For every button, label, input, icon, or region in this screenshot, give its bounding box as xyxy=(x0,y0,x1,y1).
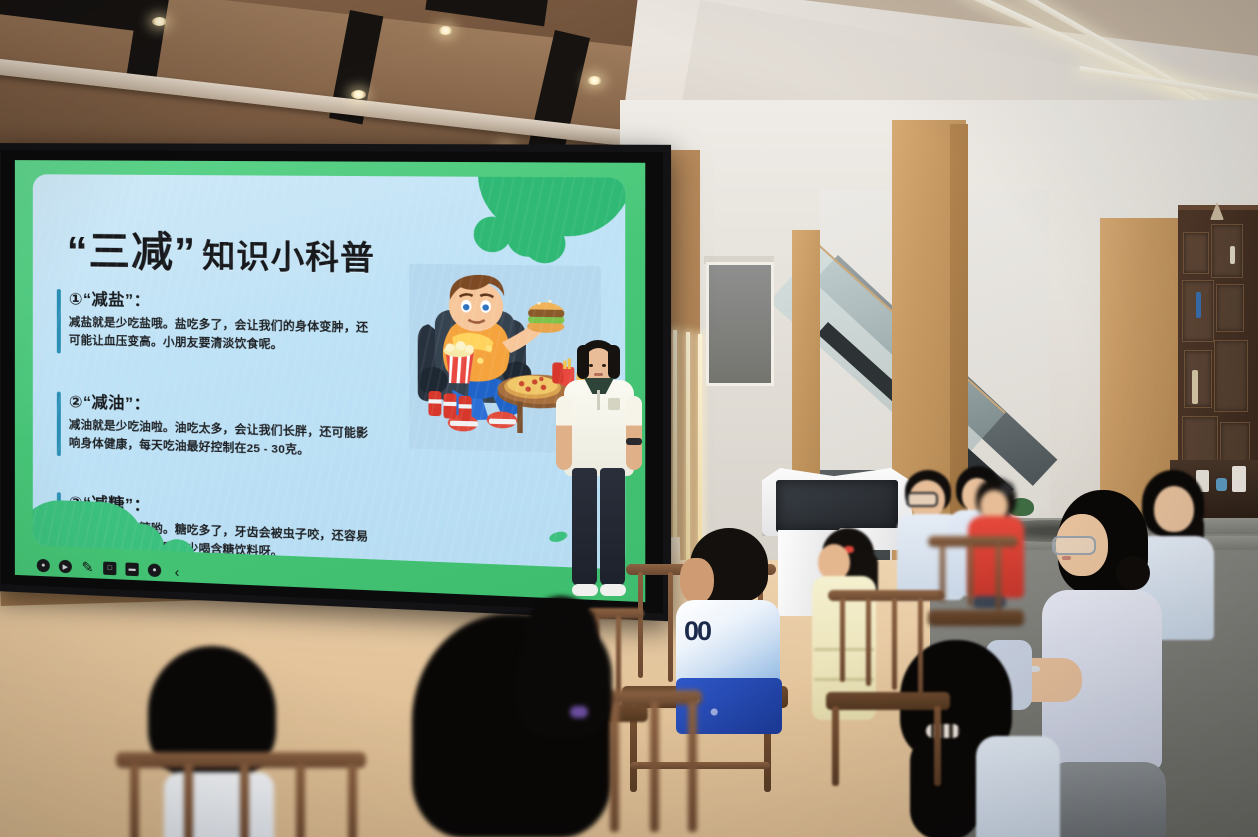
chair-spindle xyxy=(688,702,697,832)
presenter-hair-side xyxy=(577,345,589,379)
shirt xyxy=(976,736,1060,837)
photo-scene: “三减”知识小科普 ①“减盐”： 减盐就是少吃盐哦。盐吃多了，会让我们的身体变肿… xyxy=(0,0,1258,837)
presenter-wristwatch xyxy=(626,438,642,445)
head xyxy=(680,558,714,604)
slide-title-quoted: “三减” xyxy=(67,228,196,276)
presenter-placket xyxy=(597,390,600,410)
eyeglasses xyxy=(1052,536,1096,555)
shelf-ornament-4 xyxy=(1230,246,1235,264)
chair-spindle xyxy=(840,598,845,682)
chair-seat xyxy=(826,692,950,710)
chair-spindle xyxy=(940,544,945,602)
section-accent-bar xyxy=(57,392,61,457)
presenter-trouser-left xyxy=(572,468,597,586)
chair-spindle xyxy=(348,764,357,837)
record-dot-icon[interactable]: ● xyxy=(37,559,50,573)
back-chevron-icon[interactable]: ‹ xyxy=(170,564,183,578)
chair-spindle xyxy=(184,764,193,837)
shelf-cell xyxy=(1214,340,1248,412)
presenter-arm-left xyxy=(556,396,572,470)
chair-spindle xyxy=(296,764,305,837)
presenter-logo xyxy=(608,398,620,410)
presenter-mouth xyxy=(594,373,603,376)
shelf-cell xyxy=(1216,284,1244,332)
shelf-cell xyxy=(1184,350,1212,408)
candle-object-2 xyxy=(1232,466,1246,492)
ceiling-downlight-4 xyxy=(587,76,602,85)
presenter-shoe-left xyxy=(572,584,598,596)
presenter-eye-left xyxy=(589,364,593,367)
lectern-touchscreen[interactable] xyxy=(776,480,898,532)
screenshot-icon[interactable]: □ xyxy=(103,562,116,576)
grey-chair-back xyxy=(1046,762,1166,837)
settings-icon[interactable]: ● xyxy=(148,563,161,577)
head xyxy=(818,544,850,580)
camera-icon[interactable]: ▬ xyxy=(125,562,138,576)
slide-toolbar[interactable]: ● ▶ ✎ □ ▬ ● ‹ xyxy=(37,559,184,578)
slide-content-panel: “三减”知识小科普 ①“减盐”： 减盐就是少吃盐哦。盐吃多了，会让我们的身体变肿… xyxy=(33,174,625,569)
section-body: 减油就是少吃油啦。油吃太多，会让我们长胖，还可能影响身体健康，每天吃油最好控制在… xyxy=(69,417,379,462)
slide-title-rest: 知识小科普 xyxy=(202,237,375,276)
hair-bun xyxy=(1116,556,1150,590)
eyeglasses xyxy=(906,492,938,507)
hair xyxy=(516,620,612,738)
presenter-arm-right xyxy=(626,396,642,470)
section-heading: ②“减油”： xyxy=(69,388,379,421)
slide-section-1: ①“减盐”： 减盐就是少吃盐哦。盐吃多了，会让我们的身体变肿，还可能让血压变高。… xyxy=(69,285,379,357)
slide-decor-dot-top-right xyxy=(524,223,566,263)
shelf-cell xyxy=(1183,232,1209,274)
presentation-slide: “三减”知识小科普 ①“减盐”： 减盐就是少吃盐哦。盐吃多了，会让我们的身体变肿… xyxy=(15,160,645,602)
shelf-ornament-2 xyxy=(1196,292,1201,318)
slide-section-2: ②“减油”： 减油就是少吃油啦。油吃太多，会让我们长胖，还可能影响身体健康，每天… xyxy=(69,388,379,463)
presenter-hair-side-2 xyxy=(608,345,620,379)
chair-spindle xyxy=(650,702,659,832)
wooden-chair-front-left xyxy=(96,752,386,837)
chair-spindle xyxy=(668,572,673,682)
wooden-chair-4 xyxy=(928,530,1028,680)
play-circle-icon[interactable]: ▶ xyxy=(59,560,72,574)
chair-spindle xyxy=(892,598,897,690)
chair-leg xyxy=(832,706,839,786)
section-body: 减盐就是少吃盐哦。盐吃多了，会让我们的身体变肿，还可能让血压变高。小朋友要清淡饮… xyxy=(69,314,379,356)
mouth xyxy=(1062,556,1071,560)
jersey-number: 00 xyxy=(684,616,710,647)
audience-girl-purple-tie xyxy=(516,620,626,750)
shelf-cell xyxy=(1211,224,1243,278)
chair-leg xyxy=(934,706,941,786)
ceiling-downlight-3 xyxy=(351,90,366,99)
chair-spindle xyxy=(968,544,973,606)
purple-hair-tie xyxy=(570,706,588,718)
chair-spindle xyxy=(240,764,249,837)
ceiling-downlight-1 xyxy=(152,17,167,26)
chair-spindle xyxy=(130,764,139,837)
window-blind xyxy=(706,262,774,386)
shelf-ornament-1 xyxy=(1210,202,1224,220)
section-heading: ①“减盐”： xyxy=(69,285,379,315)
chair-spindle xyxy=(866,598,871,686)
chair-seat xyxy=(928,610,1024,626)
presenter-eye-right xyxy=(602,364,606,367)
pen-icon[interactable]: ✎ xyxy=(81,561,94,575)
chair-top-rail xyxy=(828,590,944,601)
ceiling-downlight-2 xyxy=(438,26,453,35)
shelf-ornament-3 xyxy=(1192,370,1198,404)
chair-spindle xyxy=(918,598,923,694)
slide-title: “三减”知识小科普 xyxy=(67,217,375,282)
chair-spindle xyxy=(996,544,1001,610)
section-accent-bar xyxy=(57,289,61,354)
